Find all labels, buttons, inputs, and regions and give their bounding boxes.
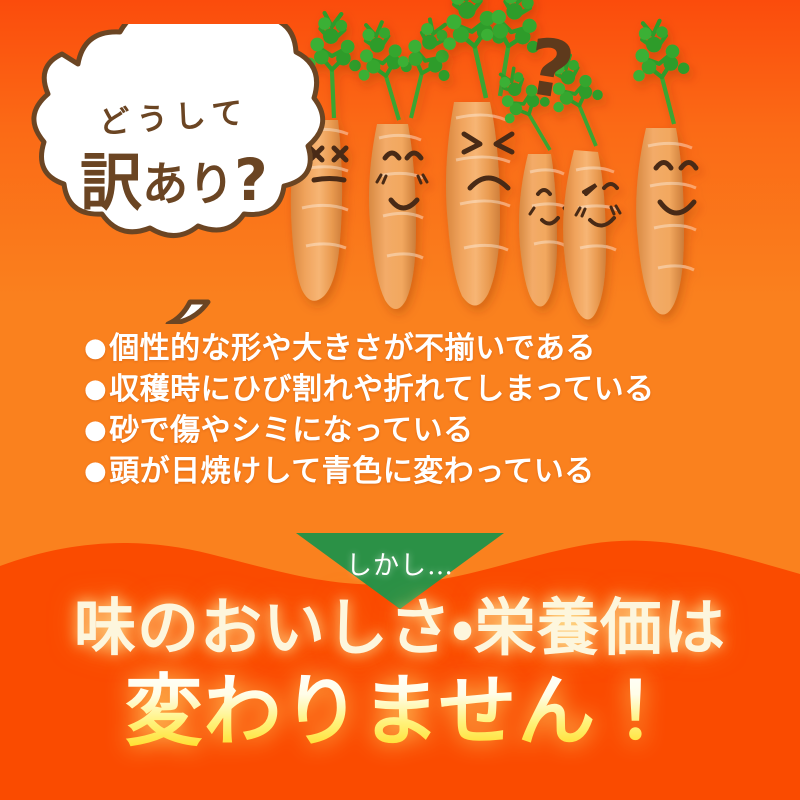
list-item: ●頭が日焼けして青色に変わっている [84, 451, 744, 492]
list-item-label: 収穫時にひび割れや折れてしまっている [109, 372, 654, 407]
bullet-dot-icon: ● [84, 415, 107, 445]
carrot-smile [347, 14, 463, 309]
speech-bubble [14, 24, 334, 324]
headline-line-1: 味のおいしさ・栄養価は [0, 592, 800, 664]
bullet-dot-icon: ● [84, 456, 107, 486]
list-item-label: 頭が日焼けして青色に変わっている [109, 454, 595, 489]
bullet-dot-icon: ● [84, 374, 107, 404]
list-item-label: 砂で傷やシミになっている [109, 413, 474, 448]
bullet-dot-icon: ● [84, 333, 107, 363]
reason-list: ●個性的な形や大きさが不揃いである ●収穫時にひび割れや折れてしまっている ●砂… [84, 328, 744, 492]
headline-block: 味のおいしさ・栄養価は 変わりません！ [0, 592, 800, 756]
list-item-label: 個性的な形や大きさが不揃いである [109, 331, 596, 366]
carrot-big-smile [623, 16, 700, 315]
list-item: ●収穫時にひび割れや折れてしまっている [84, 369, 744, 410]
list-item: ●個性的な形や大きさが不揃いである [84, 328, 744, 369]
poster-canvas: ? どうして 訳あり? ●個性的な形や大きさが不揃いである ●収穫時にひび割れや… [0, 0, 800, 800]
headline-line-2: 変わりません！ [0, 668, 800, 756]
list-item: ●砂で傷やシミになっている [84, 410, 744, 451]
